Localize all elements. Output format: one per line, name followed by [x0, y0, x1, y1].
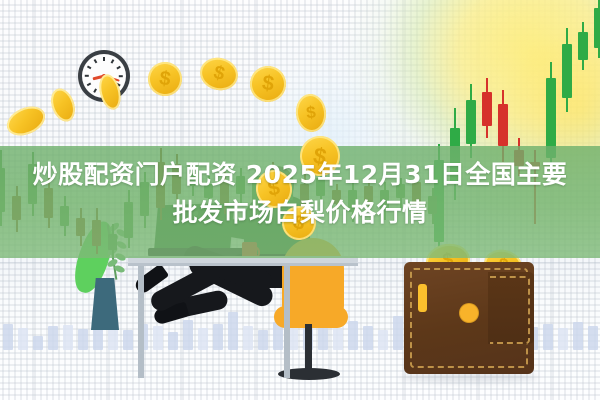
volume-bar: [3, 324, 13, 350]
wallet-button: [460, 304, 478, 322]
desk: [128, 256, 358, 386]
article-banner: $$$$ $$$$$$$ 炒股配资门户配资 2025年12月31日全国主要 批发…: [0, 0, 600, 400]
plant-pot: [91, 278, 119, 330]
title-line-1: 炒股配资门户配资 2025年12月31日全国主要: [0, 156, 600, 194]
candle-body: [578, 32, 588, 60]
volume-bar: [48, 326, 58, 350]
candle-body: [498, 104, 508, 146]
volume-bar: [543, 324, 553, 350]
volume-bar: [558, 328, 568, 350]
potted-plant: [85, 268, 125, 330]
desk-leg-left: [138, 266, 144, 378]
candle-body: [466, 100, 476, 144]
volume-bar: [78, 329, 88, 350]
volume-bar: [573, 322, 583, 350]
candle-body: [562, 44, 572, 98]
wallet-card: [418, 284, 427, 312]
candle-body: [594, 8, 600, 48]
volume-bar: [378, 330, 388, 350]
volume-bar: [18, 328, 28, 350]
page-title: 炒股配资门户配资 2025年12月31日全国主要 批发市场白梨价格行情: [0, 156, 600, 232]
title-line-2: 批发市场白梨价格行情: [0, 194, 600, 232]
volume-bar: [33, 336, 43, 350]
leather-wallet: [404, 262, 534, 374]
wallet-flap-stitch: [490, 276, 530, 344]
volume-bar: [63, 325, 73, 350]
desk-top-shadow: [128, 263, 358, 266]
volume-bar: [108, 327, 118, 350]
desk-leg-right: [284, 266, 290, 378]
candle-body: [482, 92, 492, 126]
volume-bar: [588, 326, 598, 350]
volume-bar: [363, 326, 373, 350]
volume-bar: [393, 316, 403, 350]
